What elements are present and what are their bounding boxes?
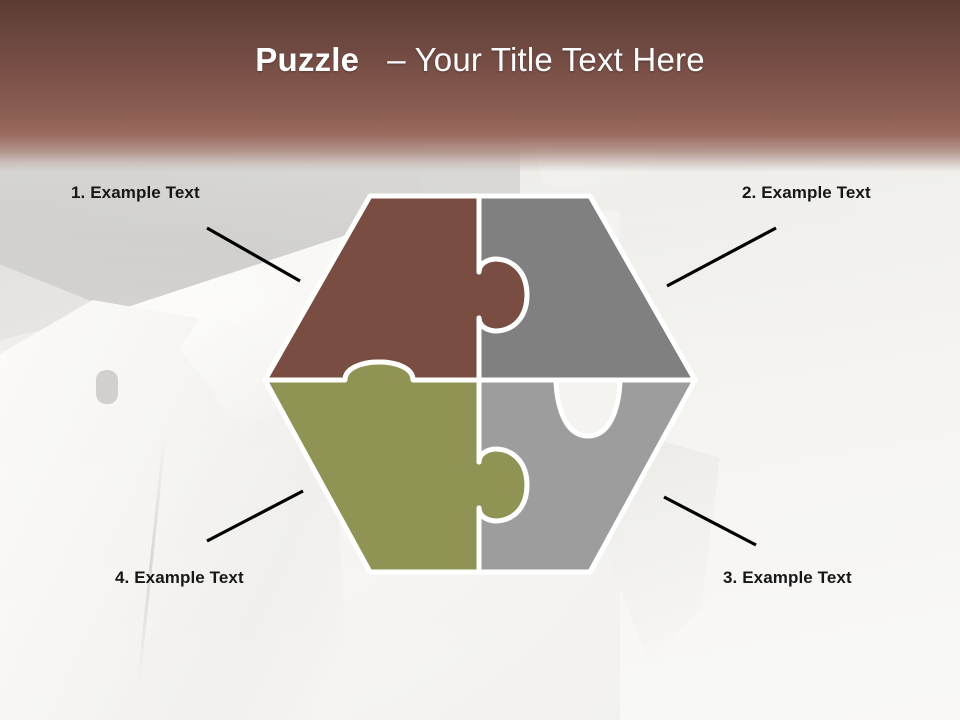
leader-line-4 [207, 491, 303, 541]
callout-label-1[interactable]: 1. Example Text [71, 183, 200, 203]
callout-label-2[interactable]: 2. Example Text [742, 183, 871, 203]
leader-line-2 [667, 228, 776, 286]
callout-label-4[interactable]: 4. Example Text [115, 568, 244, 588]
slide-canvas: Puzzle – Your Title Text Here 1. Example… [0, 0, 960, 720]
leader-line-1 [207, 228, 300, 281]
callout-label-3[interactable]: 3. Example Text [723, 568, 852, 588]
leader-line-3 [664, 497, 756, 545]
puzzle-diagram [0, 0, 960, 720]
